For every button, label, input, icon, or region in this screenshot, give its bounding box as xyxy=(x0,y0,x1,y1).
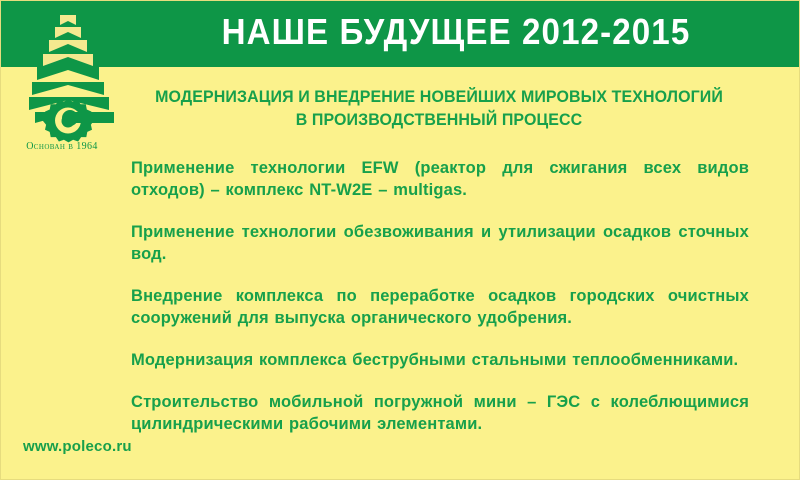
list-item: Применение технологии EFW (реактор для с… xyxy=(131,157,749,201)
presentation-slide: НАШЕ БУДУЩЕЕ 2012-2015 xyxy=(0,0,800,480)
section-subtitle: МОДЕРНИЗАЦИЯ И ВНЕДРЕНИЕ НОВЕЙШИХ МИРОВЫ… xyxy=(146,85,733,131)
list-item: Внедрение комплекса по переработке осадк… xyxy=(131,285,749,329)
subtitle-line-2: В ПРОИЗВОДСТВЕННЫЙ ПРОЦЕСС xyxy=(146,108,733,131)
logo-caption: Основан в 1964 xyxy=(9,141,115,152)
list-item: Модернизация комплекса беструбными сталь… xyxy=(131,349,749,371)
subtitle-line-1: МОДЕРНИЗАЦИЯ И ВНЕДРЕНИЕ НОВЕЙШИХ МИРОВЫ… xyxy=(146,85,733,108)
website-url[interactable]: www.poleco.ru xyxy=(23,438,132,455)
bullet-list: Применение технологии EFW (реактор для с… xyxy=(131,157,749,435)
list-item: Применение технологии обезвоживания и ут… xyxy=(131,221,749,265)
poleco-tree-sawblade-icon xyxy=(15,11,121,161)
page-title: НАШЕ БУДУЩЕЕ 2012-2015 xyxy=(148,9,764,55)
company-logo xyxy=(15,11,121,161)
list-item: Строительство мобильной погружной мини –… xyxy=(131,391,749,435)
